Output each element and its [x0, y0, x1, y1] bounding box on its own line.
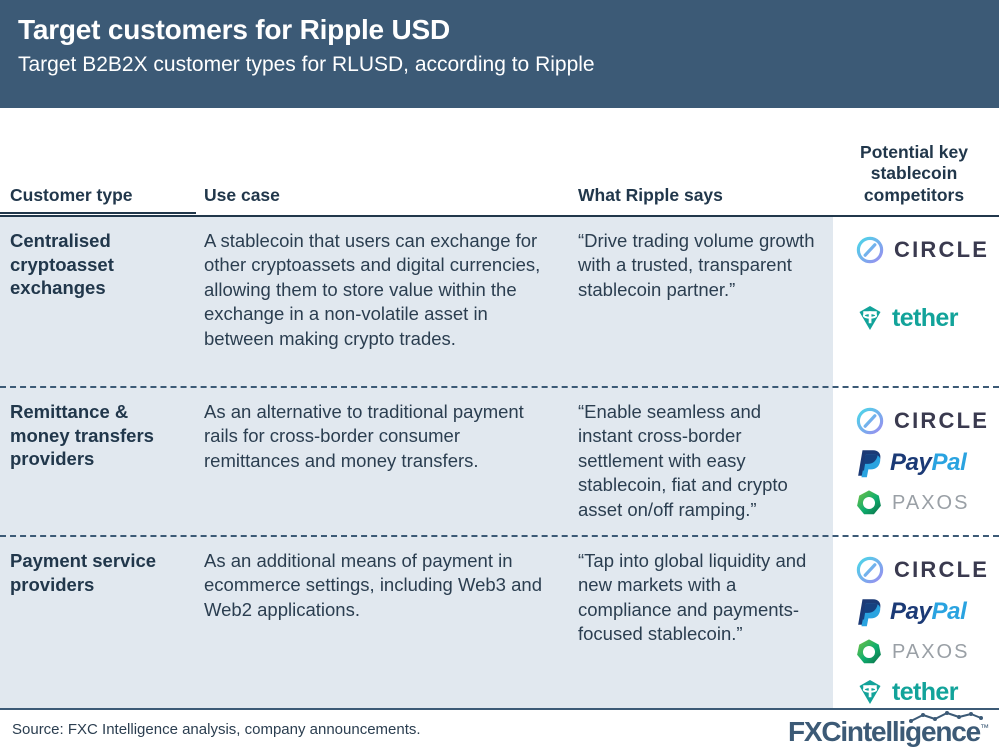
table-row: Payment service providers As an addition… — [0, 535, 999, 708]
logo-spacer — [855, 269, 991, 299]
table-row: Centralised cryptoasset exchanges A stab… — [0, 215, 999, 386]
infographic-page: Target customers for Ripple USD Target B… — [0, 0, 999, 749]
column-header-competitors: Potential key stablecoin competitors — [833, 142, 999, 215]
table-header-row: Customer type Use case What Ripple says … — [0, 108, 999, 215]
paypal-wordmark-pal: Pal — [932, 449, 967, 476]
circle-mark-icon — [855, 555, 885, 585]
paxos-wordmark: PAXOS — [892, 641, 969, 664]
brand-wordmark: FXCintelligence™ — [788, 718, 989, 746]
paypal-logo: PayPal — [855, 444, 991, 482]
tether-logo: tether — [855, 673, 991, 711]
column-header-use-case: Use case — [196, 185, 568, 215]
source-note: Source: FXC Intelligence analysis, compa… — [12, 721, 421, 738]
tether-wordmark: tether — [892, 678, 958, 707]
footer: Source: FXC Intelligence analysis, compa… — [0, 710, 999, 749]
brand-trademark: ™ — [980, 723, 989, 733]
brand-fx: FXC — [788, 716, 840, 747]
row-separator — [0, 535, 999, 537]
cell-use-case: As an alternative to traditional payment… — [196, 386, 568, 535]
column-header-what-ripple-says: What Ripple says — [568, 185, 833, 215]
table-row: Remittance & money transfers providers A… — [0, 386, 999, 535]
competitor-logo-list: CIRCLE PayPal — [833, 386, 991, 520]
circle-mark-icon — [855, 235, 885, 265]
cell-customer-type: Centralised cryptoasset exchanges — [0, 215, 196, 386]
row-separator — [0, 386, 999, 388]
tether-mark-icon — [855, 677, 885, 707]
cell-competitors: CIRCLE — [833, 535, 999, 708]
paxos-logo: PAXOS — [855, 635, 991, 669]
cell-use-case: A stablecoin that users can exchange for… — [196, 215, 568, 386]
cell-competitors: CIRCLE PayPal — [833, 386, 999, 535]
paxos-mark-icon — [855, 489, 883, 517]
paypal-wordmark-pal: Pal — [932, 598, 967, 625]
paypal-wordmark: PayPal — [890, 449, 966, 477]
column-header-customer-type: Customer type — [0, 185, 196, 215]
cell-competitors: CIRCLE tether — [833, 215, 999, 386]
cell-what-ripple-says: “Drive trading volume growth with a trus… — [568, 215, 833, 386]
tether-logo: tether — [855, 299, 991, 337]
circle-wordmark: CIRCLE — [894, 237, 989, 263]
header-band: Target customers for Ripple USD Target B… — [0, 0, 999, 108]
fxc-intelligence-logo: FXCintelligence™ — [788, 716, 989, 748]
circle-wordmark: CIRCLE — [894, 408, 989, 434]
tether-wordmark: tether — [892, 304, 958, 333]
paypal-mark-icon — [855, 447, 885, 479]
circle-logo: CIRCLE — [855, 231, 991, 269]
header-rule-left — [0, 212, 196, 214]
paypal-logo: PayPal — [855, 593, 991, 631]
data-table: Customer type Use case What Ripple says … — [0, 108, 999, 708]
paypal-wordmark: PayPal — [890, 598, 966, 626]
paxos-wordmark: PAXOS — [892, 492, 969, 515]
paypal-mark-icon — [855, 596, 885, 628]
circle-logo: CIRCLE — [855, 402, 991, 440]
cell-use-case: As an additional means of payment in eco… — [196, 535, 568, 708]
cell-what-ripple-says: “Tap into global liquidity and new marke… — [568, 535, 833, 708]
competitor-logo-list: CIRCLE tether — [833, 215, 991, 337]
paxos-logo: PAXOS — [855, 486, 991, 520]
sparkline-icon — [909, 711, 983, 724]
cell-what-ripple-says: “Enable seamless and instant cross-borde… — [568, 386, 833, 535]
competitor-logo-list: CIRCLE — [833, 535, 991, 711]
tether-mark-icon — [855, 303, 885, 333]
circle-mark-icon — [855, 406, 885, 436]
paypal-wordmark-pay: Pay — [890, 598, 932, 625]
paypal-wordmark-pay: Pay — [890, 449, 932, 476]
paxos-mark-icon — [855, 638, 883, 666]
cell-customer-type: Remittance & money transfers providers — [0, 386, 196, 535]
page-title: Target customers for Ripple USD — [18, 12, 999, 47]
page-subtitle: Target B2B2X customer types for RLUSD, a… — [18, 51, 999, 78]
circle-wordmark: CIRCLE — [894, 557, 989, 583]
cell-customer-type: Payment service providers — [0, 535, 196, 708]
circle-logo: CIRCLE — [855, 551, 991, 589]
